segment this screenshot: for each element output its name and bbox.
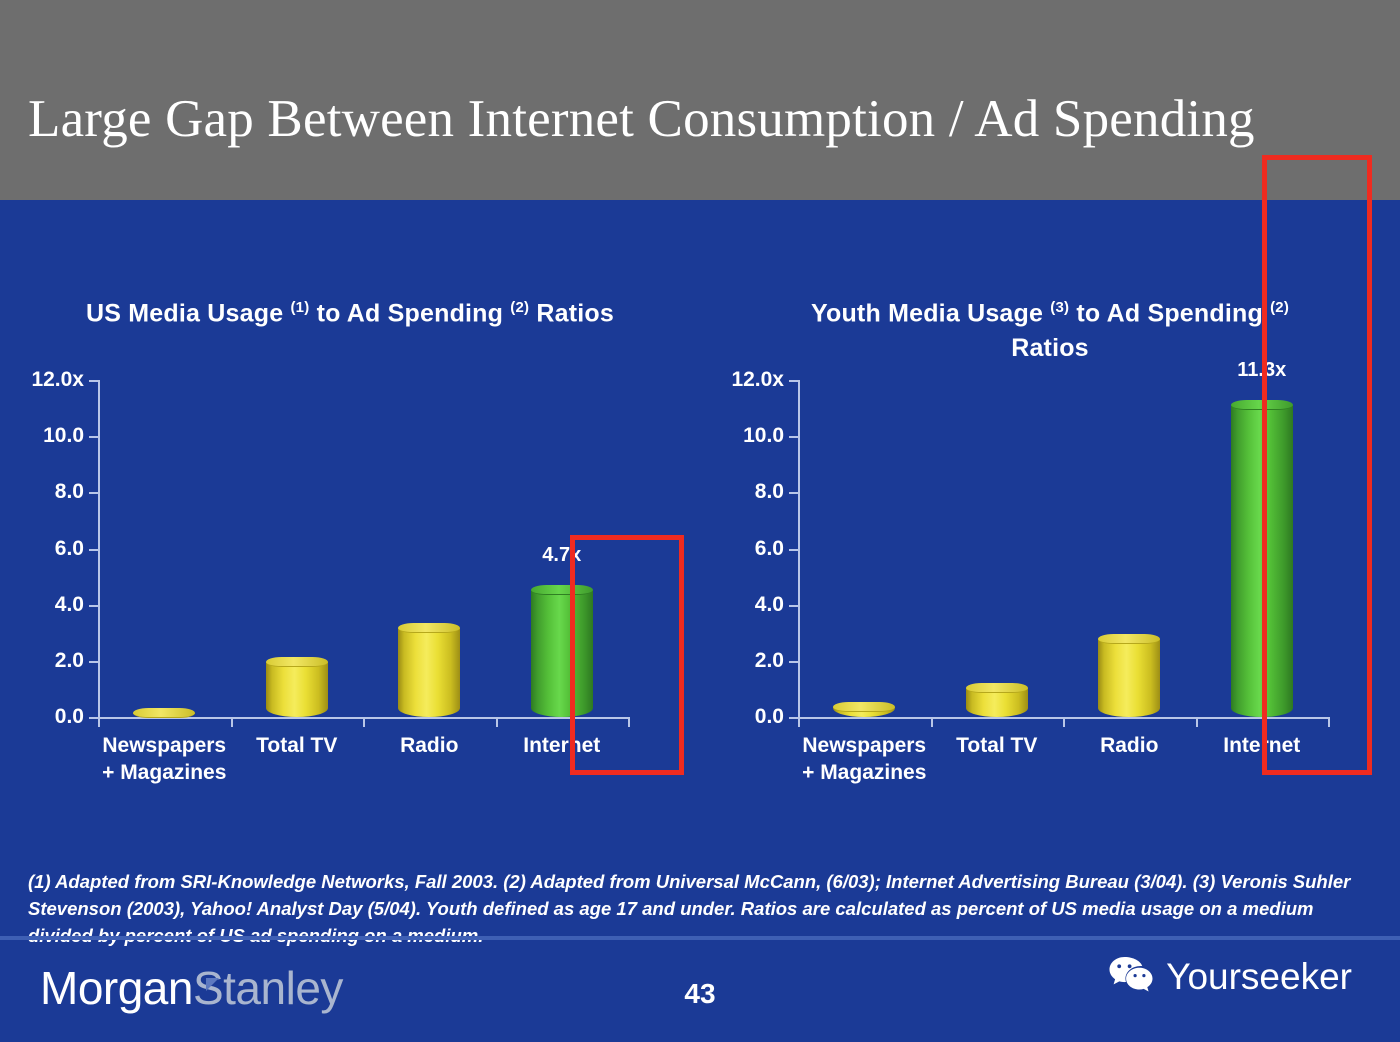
chart-title-text-3: Ratios [536,299,614,327]
y-axis-tick [89,661,98,663]
y-axis-line [98,380,100,717]
bar-body [1098,639,1160,717]
x-axis-category-label: Internet [1223,732,1300,759]
bar-cap [966,683,1028,693]
x-axis-category-label: Internet [523,732,600,759]
chart-panel-us-media: US Media Usage (1) to Ad Spending (2) Ra… [0,200,700,820]
bar-cap [266,657,328,667]
yourseeker-label: Yourseeker [1166,956,1352,998]
bar-total-tv [266,657,328,717]
x-axis-tick [363,717,365,727]
x-axis-tick [628,717,630,727]
x-axis-category-label: Total TV [956,732,1037,759]
y-axis-tick [789,380,798,382]
y-axis-tick [89,492,98,494]
slide-footer: MorganStanley 43 Yourseeker [0,940,1400,1042]
x-axis-tick [98,717,100,727]
chart-panel-youth-media: Youth Media Usage (3) to Ad Spending (2)… [700,200,1400,820]
bar-body [266,662,328,717]
x-axis-category-label: Newspapers+ Magazines [802,732,926,786]
chart-title-text-2: to Ad Spending [317,299,504,327]
x-axis-tick [496,717,498,727]
y-axis-tick-label: 10.0 [43,424,84,448]
y-axis-tick-label: 12.0x [31,368,84,392]
y-axis-tick [789,605,798,607]
bar-newspapers [833,702,895,717]
yourseeker-watermark: Yourseeker [1108,954,1352,999]
y-axis-tick-label: 4.0 [55,593,84,617]
y-axis-tick [89,380,98,382]
y-axis-tick-label: 0.0 [755,705,784,729]
bar-cap [531,585,593,595]
bar-body [398,628,460,717]
wechat-icon [1108,954,1154,999]
x-axis-tick [1328,717,1330,727]
footnote-marker-2: (2) [1270,299,1289,316]
chart-title-text-1: Youth Media Usage [811,299,1043,327]
x-axis-category-label: Newspapers+ Magazines [102,732,226,786]
bar-cap [133,708,195,718]
chart-title-youth-media: Youth Media Usage (3) to Ad Spending (2)… [700,290,1400,366]
x-axis-category-label: Radio [1100,732,1158,759]
y-axis-tick [89,549,98,551]
plot-area-youth-media: 0.02.04.06.08.010.012.0xNewspapers+ Maga… [798,380,1328,717]
x-axis-tick [231,717,233,727]
bar-value-label: 4.7x [542,544,581,567]
y-axis-tick-label: 10.0 [743,424,784,448]
y-axis-tick [89,436,98,438]
bar-radio [398,623,460,717]
y-axis-tick-label: 6.0 [755,537,784,561]
y-axis-tick-label: 4.0 [755,593,784,617]
x-axis-category-label: Radio [400,732,458,759]
page-title: Large Gap Between Internet Consumption /… [28,88,1378,150]
bar-body [531,590,593,717]
y-axis-tick [789,661,798,663]
slide-root: Large Gap Between Internet Consumption /… [0,0,1400,1042]
y-axis-tick-label: 2.0 [55,649,84,673]
bar-cap [1098,634,1160,644]
y-axis-tick-label: 8.0 [755,480,784,504]
chart-title-text-1: US Media Usage [86,299,283,327]
x-axis-category-label: Total TV [256,732,337,759]
x-axis-tick [931,717,933,727]
bar-internet: 4.7x [531,585,593,717]
plot-area-us-media: 0.02.04.06.08.010.012.0xNewspapers+ Maga… [98,380,628,717]
bar-total-tv [966,683,1028,717]
bar-body [1231,405,1293,717]
x-axis-tick [1063,717,1065,727]
bar-cap [1231,400,1293,410]
x-axis-tick [798,717,800,727]
bar-internet: 11.3x [1231,400,1293,717]
y-axis-line [798,380,800,717]
y-axis-tick-label: 2.0 [755,649,784,673]
bar-radio [1098,634,1160,717]
x-axis-tick [1196,717,1198,727]
bar-cap [833,702,895,712]
y-axis-tick [789,717,798,719]
footnote-marker-2: (2) [510,299,529,316]
y-axis-tick-label: 0.0 [55,705,84,729]
chart-title-us-media: US Media Usage (1) to Ad Spending (2) Ra… [0,290,700,331]
slide-body: US Media Usage (1) to Ad Spending (2) Ra… [0,200,1400,1042]
y-axis-tick [89,717,98,719]
y-axis-tick [89,605,98,607]
footnote-marker-3: (3) [1050,299,1069,316]
chart-title-text-2: to Ad Spending [1076,299,1263,327]
bar-cap [398,623,460,633]
bar-value-label: 11.3x [1237,359,1286,382]
y-axis-tick-label: 8.0 [55,480,84,504]
y-axis-tick [789,436,798,438]
bar-newspapers [133,708,195,717]
y-axis-tick-label: 12.0x [731,368,784,392]
footnote-marker-1: (1) [290,299,309,316]
y-axis-tick [789,549,798,551]
y-axis-tick [789,492,798,494]
y-axis-tick-label: 6.0 [55,537,84,561]
chart-title-text-3: Ratios [1011,334,1089,362]
